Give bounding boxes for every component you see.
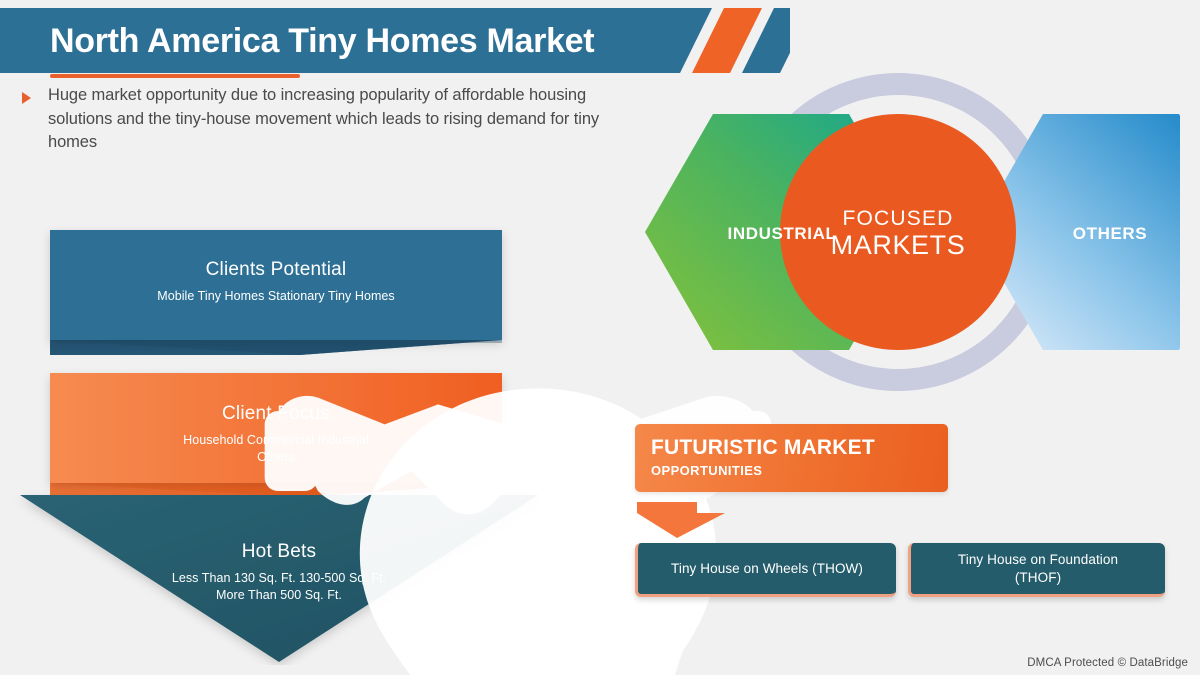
funnel-stage-client-focus — [50, 373, 502, 497]
futuristic-market-subtitle: OPPORTUNITIES — [651, 462, 948, 479]
bullet-underline-rule — [50, 74, 300, 78]
result-box-thow[interactable]: Tiny House on Wheels (THOW) — [635, 543, 896, 597]
center-label-line2: MARKETS — [831, 230, 966, 260]
funnel-chart: Clients Potential Mobile Tiny Homes Stat… — [0, 215, 560, 665]
funnel-stage-hot-bets — [20, 495, 538, 662]
funnel-stage-clients-potential — [50, 230, 502, 355]
down-arrow-icon — [637, 500, 725, 538]
futuristic-market-box: FUTURISTIC MARKET OPPORTUNITIES — [635, 424, 948, 492]
center-label-line1: FOCUSED — [842, 207, 953, 230]
footer-credit: DMCA Protected © DataBridge — [1027, 657, 1188, 669]
bullet-block: Huge market opportunity due to increasin… — [22, 84, 602, 155]
triangle-right-icon — [22, 92, 31, 104]
page-title: North America Tiny Homes Market — [50, 18, 710, 64]
bullet-text: Huge market opportunity due to increasin… — [48, 84, 602, 155]
infographic-slide: North America Tiny Homes Market Huge mar… — [0, 0, 1200, 675]
hexagon-industrial-label: INDUSTRIAL — [728, 224, 837, 243]
result-box-thof[interactable]: Tiny House on Foundation(THOF) — [908, 543, 1165, 597]
focused-markets-diagram: INDUSTRIAL OTHERS FOCUSED MARKETS — [620, 62, 1180, 402]
result-box-thof-label: Tiny House on Foundation(THOF) — [958, 551, 1118, 587]
hexagon-others-label: OTHERS — [1073, 224, 1147, 243]
futuristic-market-title: FUTURISTIC MARKET — [651, 436, 948, 460]
result-box-thow-label: Tiny House on Wheels (THOW) — [671, 560, 863, 578]
